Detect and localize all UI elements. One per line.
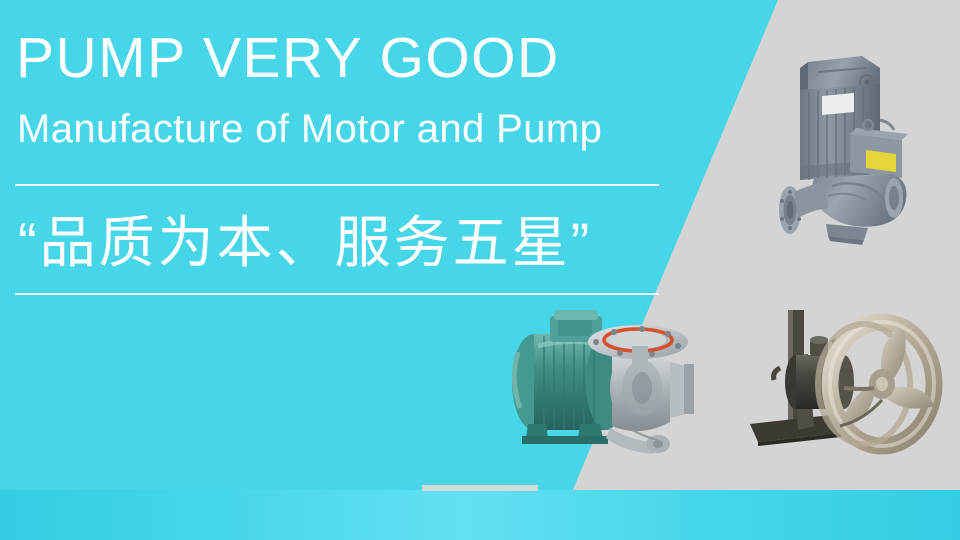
slogan-text: “品质为本、服务五星” xyxy=(18,203,592,283)
product-image-vertical-inline-pump xyxy=(762,46,958,252)
divider-top xyxy=(15,184,659,186)
promo-banner: PUMP VERY GOOD Manufacture of Motor and … xyxy=(0,0,960,540)
page-title: PUMP VERY GOOD xyxy=(16,25,560,91)
product-image-horizontal-centrifugal-pump xyxy=(492,302,724,488)
product-image-submersible-mixer xyxy=(736,296,958,468)
bottom-cyan-band xyxy=(0,490,960,540)
subtitle: Manufacture of Motor and Pump xyxy=(17,104,602,154)
divider-bottom xyxy=(15,293,659,295)
headline-text-block: PUMP VERY GOOD Manufacture of Motor and … xyxy=(0,0,700,320)
